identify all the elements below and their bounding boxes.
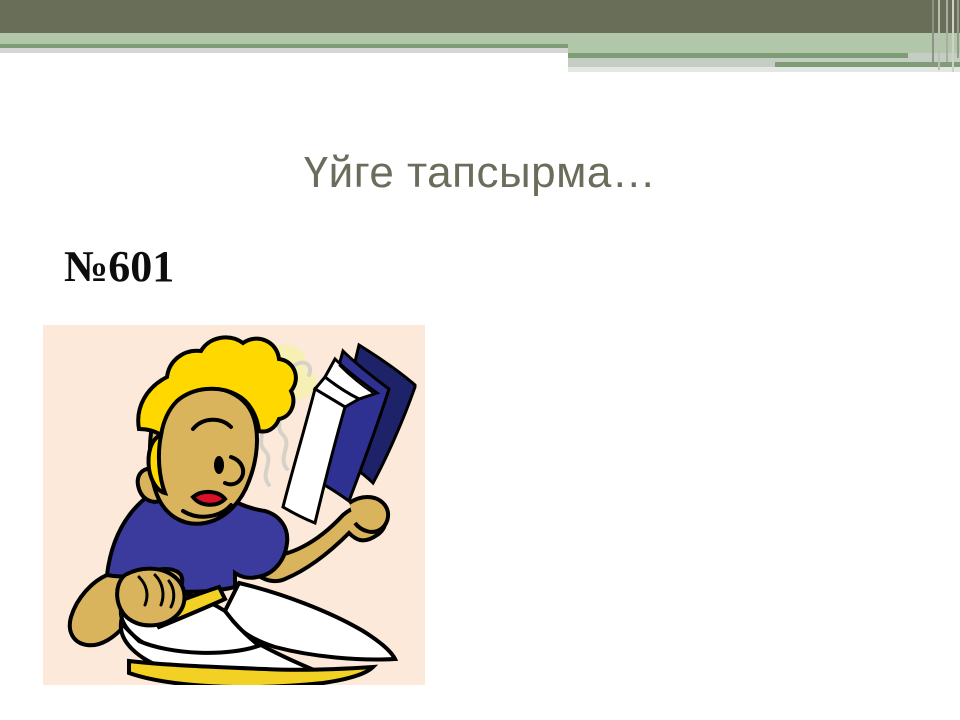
header-vertical-accent-1: [932, 0, 934, 66]
boy-reading-clipart: [43, 325, 425, 685]
decorative-header-banner: [0, 0, 960, 78]
header-band-pale-sage-left: [0, 33, 568, 44]
mouth: [193, 492, 225, 505]
header-band-pale-sage-right: [568, 33, 960, 53]
boy-reading-illustration: [43, 325, 425, 685]
header-vertical-accent-4: [952, 0, 954, 72]
header-vertical-accent-3: [946, 0, 948, 62]
header-wash-grey-right: [568, 67, 960, 72]
exercise-number: №601: [64, 243, 174, 291]
slide-canvas: Үйге тапсырма… №601: [0, 0, 960, 720]
header-vertical-accent-2: [938, 0, 940, 70]
header-wash-grey-left: [0, 48, 568, 53]
eye: [214, 456, 224, 474]
slide-title: Үйге тапсырма…: [0, 148, 960, 199]
header-band-dark-olive: [0, 0, 960, 33]
header-rule-sage-right-tier2: [568, 53, 908, 58]
header-vertical-accent-5: [957, 0, 959, 58]
